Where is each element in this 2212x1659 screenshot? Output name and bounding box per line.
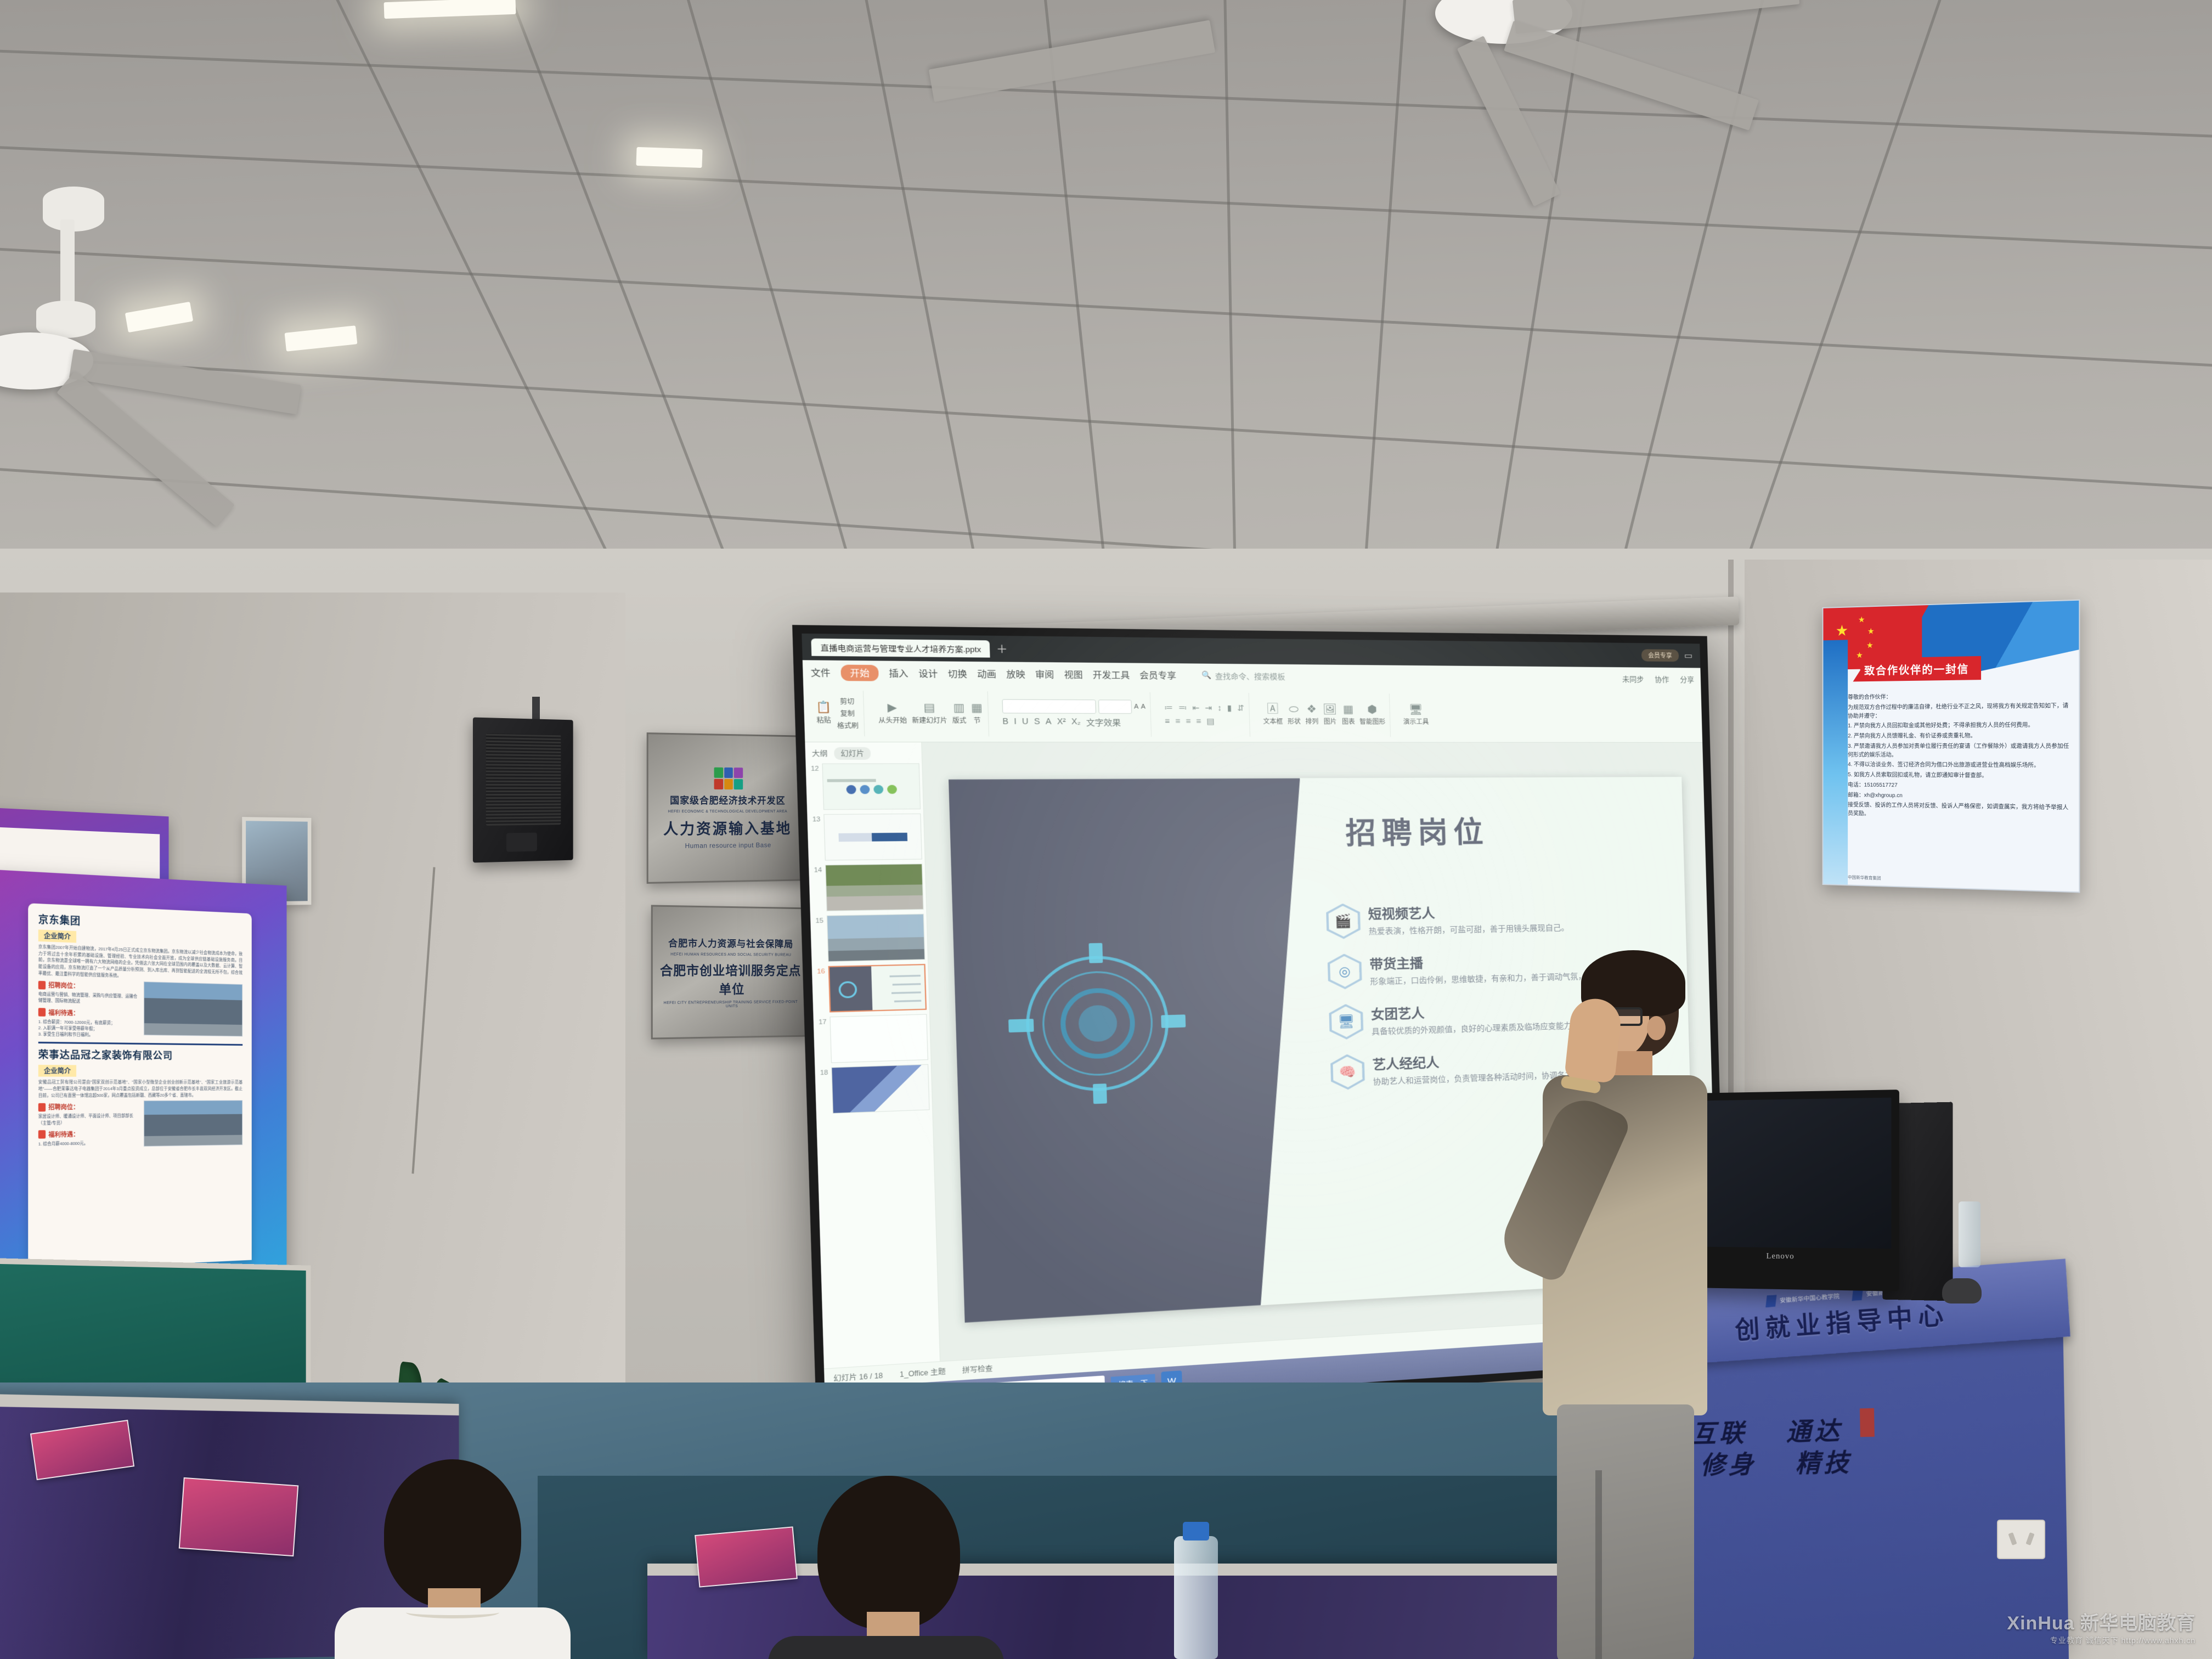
tab-member[interactable]: 会员专享 (1139, 669, 1176, 681)
window-minimize-icon[interactable]: ▭ (1684, 650, 1693, 661)
paste-button[interactable]: 📋 粘贴 (816, 702, 832, 725)
computer-mouse[interactable] (1942, 1278, 1982, 1304)
display-board-recruitment: 京东集团 企业简介 京东集团2007年开始自建物流，2017年4月25日正式成立… (0, 869, 286, 1303)
text-color-button[interactable]: A (1046, 716, 1052, 729)
smartart-icon: ⬢ (1367, 704, 1377, 715)
watermark-tagline: 专业教育 诚信天下 http://www.ahxh.cn (2007, 1635, 2196, 1646)
plaque-title-cn: 人力资源输入基地 (663, 816, 792, 838)
plaque-hr-base: 国家级合肥经济技术开发区 HEFEI ECONOMIC & TECHNOLOGI… (647, 732, 807, 884)
poster-rule: 2. 严禁向我方人员馈赠礼金、有价证券或贵重礼物。 (1848, 731, 2071, 741)
development-zone-logo-icon (714, 767, 743, 789)
text-direction-icon[interactable]: ⇵ (1237, 703, 1244, 713)
bold-button[interactable]: B (1002, 716, 1008, 729)
align-right-icon[interactable]: ≡ (1186, 716, 1191, 726)
shapes-icon: ⬭ (1289, 704, 1299, 715)
thumbnail-item-selected[interactable]: 16 (815, 964, 927, 1013)
necklace (406, 1606, 499, 1618)
ceiling-fan (1130, 0, 1734, 187)
ribbon-group-drawing: 🄰 文本框 ⬭ 形状 ❖ 排列 🖼 图片 ▦ (1257, 693, 1391, 737)
thumbnail-item[interactable]: 15 (813, 914, 926, 962)
document-tab[interactable]: 直播电商运营与管理专业人才培养方案.pptx (811, 638, 990, 657)
search-icon: 🔍 (1201, 670, 1211, 680)
theme-name[interactable]: 1_Office 主题 (900, 1366, 946, 1379)
poster-letter-to-partners: ★ ★ ★ ★ ★ 致合作伙伴的一封信 尊敬的合作伙伴： 为规范双方合作过程中的… (1822, 600, 2080, 893)
font-family-select[interactable] (1002, 699, 1096, 714)
ribbon-toolbar: 📋 粘贴 剪切 复制 格式刷 (803, 684, 1702, 742)
ceiling-fan (0, 181, 219, 488)
brochure[interactable] (179, 1477, 299, 1556)
section-icon: ▦ (971, 702, 983, 714)
plaque-title-cn: 合肥市创业培训服务定点单位 (658, 960, 803, 998)
thumbnail-item[interactable]: 18 (817, 1064, 929, 1114)
chart-icon: ▦ (1343, 704, 1354, 715)
ceiling-light (285, 325, 358, 351)
welfare-heading: 福利待遇： (38, 1129, 139, 1139)
poster-rule: 4. 不得以洽谈业务、签订经济合同为借口外出旅游或进营业性高档娱乐场所。 (1848, 761, 2071, 770)
poster-intro: 为规范双方合作过程中的廉洁自律，杜绝行业不正之风，现将我方有关规定告知如下，请协… (1848, 702, 2071, 721)
new-slide-icon: ▤ (923, 702, 935, 714)
tab-animation[interactable]: 动画 (977, 667, 996, 680)
section-tag: 企业简介 (38, 1065, 76, 1077)
smartart-button[interactable]: ⬢ 智能图形 (1359, 704, 1385, 726)
picture-icon: 🖼 (1323, 704, 1337, 715)
member-badge[interactable]: 会员专享 (1641, 649, 1679, 662)
water-bottle[interactable] (1174, 1536, 1218, 1659)
start-from-beginning-button[interactable]: ▶ 从头开始 (878, 702, 907, 725)
student-seated-center (768, 1476, 1004, 1659)
tab-view[interactable]: 视图 (1064, 668, 1083, 681)
ribbon-group-slides: ▶ 从头开始 ▤ 新建幻灯片 ▥ 版式 ▦ 节 (872, 691, 989, 736)
wall-speaker (473, 718, 573, 863)
slide-list-item: 🎬 短视频艺人 热爱表演，性格开朗，可盐可甜，善于用镜头展现自己。 (1325, 898, 1666, 939)
superscript-button[interactable]: X² (1057, 716, 1066, 729)
italic-button[interactable]: I (1014, 716, 1017, 729)
calligraphy-right: 通达 精技 (1786, 1415, 1852, 1480)
plaque-title-en: Human resource input Base (685, 841, 771, 850)
tab-review[interactable]: 审阅 (1035, 668, 1054, 680)
pin-icon (38, 980, 46, 989)
company-photo (144, 981, 242, 1036)
plaque-org-en: HEFEI HUMAN RESOURCES AND SOCIAL SECURIT… (670, 952, 791, 957)
strikethrough-button[interactable]: S (1034, 716, 1040, 729)
command-search[interactable]: 🔍 查找命令、搜索模板 (1201, 670, 1285, 681)
presentation-tools-button[interactable]: 🖥 演示工具 (1403, 704, 1429, 726)
school-mark-icon (1765, 1295, 1778, 1307)
tab-transition[interactable]: 切换 (948, 667, 968, 680)
arrange-button[interactable]: ❖ 排列 (1305, 704, 1319, 726)
columns-icon[interactable]: ▮ (1227, 703, 1232, 713)
arrange-icon: ❖ (1306, 704, 1317, 715)
format-painter-button[interactable]: 格式刷 (837, 720, 859, 730)
line-spacing-icon[interactable]: ↕ (1217, 703, 1222, 713)
font-size-select[interactable] (1098, 699, 1131, 714)
new-slide-button[interactable]: ▤ 新建幻灯片 (911, 702, 947, 725)
poster-email-label: 邮箱： (1848, 792, 1864, 798)
watermark-brand-en: XinHua (2007, 1613, 2074, 1634)
watermark-brand-cn: 新华电脑教育 (2080, 1613, 2196, 1634)
item-desc: 热爱表演，性格开朗，可盐可甜，善于用镜头展现自己。 (1369, 922, 1569, 937)
section-tag: 企业简介 (38, 929, 76, 943)
poster-rule: 1. 严禁向我方人员回扣取金或其他好处费；不得承担我方人员的任何费用。 (1848, 721, 2071, 731)
layout-icon: ▥ (953, 702, 964, 714)
head-brain-icon: 🧠 (1339, 1064, 1356, 1080)
monitor-icon: 🖥 (1338, 1014, 1355, 1030)
thumbnail-panel-tabs: 大纲 幻灯片 (808, 746, 919, 764)
calligraphy-seal (1860, 1408, 1875, 1437)
section-button[interactable]: ▦ 节 (971, 702, 983, 725)
textbox-icon: 🄰 (1267, 704, 1278, 715)
board-card: 京东集团 企业简介 京东集团2007年开始自建物流，2017年4月25日正式成立… (28, 903, 252, 1271)
bullets-icon[interactable]: ≔ (1164, 703, 1173, 713)
company-intro: 安徽品冠工贸有限公司是由"国家双创示范基地"、"国家小型微型企业创业创新示范基地… (38, 1079, 242, 1099)
plaque-training-unit: 合肥市人力资源与社会保障局 HEFEI HUMAN RESOURCES AND … (651, 905, 810, 1039)
ceiling-light (384, 0, 516, 19)
company-name: 荣事达品冠之家装饰有限公司 (38, 1047, 242, 1063)
slide-thumbnail-panel[interactable]: 大纲 幻灯片 12 13 (805, 742, 940, 1368)
subscript-button[interactable]: X₂ (1071, 716, 1081, 728)
ribbon-group-clipboard: 📋 粘贴 剪切 复制 格式刷 (810, 690, 865, 736)
slide-counter: 幻灯片 16 / 18 (833, 1370, 883, 1384)
distribute-icon[interactable]: ▤ (1206, 716, 1215, 726)
numbering-icon[interactable]: ≕ (1178, 703, 1187, 713)
poster-body: 尊敬的合作伙伴： 为规范双方合作过程中的廉洁自律，杜绝行业不正之风，现将我方有关… (1848, 691, 2071, 823)
presenter-hand (1564, 996, 1623, 1084)
presentation-tools-icon: 🖥 (1409, 704, 1423, 715)
poster-phone: 15105517727 (1864, 782, 1898, 788)
justify-icon[interactable]: ≡ (1196, 716, 1201, 726)
ribbon-group-font: A A B I U S A X² X₂ 文字效果 (996, 691, 1152, 736)
tech-circle-graphic (1024, 954, 1171, 1093)
plaque-org-cn: 合肥市人力资源与社会保障局 (668, 935, 793, 950)
presenter-trousers (1557, 1404, 1694, 1659)
tab-developer[interactable]: 开发工具 (1092, 668, 1130, 681)
share-button[interactable]: 分享 (1680, 674, 1694, 684)
picture-button[interactable]: 🖼 图片 (1323, 704, 1338, 726)
pin-icon (38, 1130, 46, 1139)
company-intro: 京东集团2007年开始自建物流，2017年4月25日正式成立京东物流集团。京东物… (38, 944, 242, 982)
plaque-org-en: HEFEI ECONOMIC & TECHNOLOGICAL DEVELOPME… (668, 809, 787, 813)
poster-email: xh@xhgroup.cn (1864, 792, 1903, 799)
presenter-person (1531, 955, 1717, 1659)
new-tab-icon[interactable]: ＋ (996, 641, 1008, 656)
tab-slides[interactable]: 幻灯片 (834, 747, 871, 760)
chart-button[interactable]: ▦ 图表 (1341, 704, 1355, 726)
poster-salutation: 尊敬的合作伙伴： (1848, 691, 2071, 702)
wall-power-outlet[interactable] (1997, 1520, 2045, 1559)
shapes-button[interactable]: ⬭ 形状 (1287, 704, 1301, 726)
slide-title: 招聘岗位 (1345, 809, 1489, 853)
align-left-icon[interactable]: ≡ (1165, 716, 1170, 726)
target-search-icon: ◎ (1339, 963, 1351, 979)
pin-icon (38, 1103, 46, 1111)
clipboard-icon: 📋 (816, 702, 832, 713)
item-heading: 短视频艺人 (1368, 900, 1568, 922)
poster-footer: 接受反馈、投诉的工作人员将对反馈、投诉人严格保密，如调查属实，我方将给予举报人员… (1848, 801, 2071, 821)
poster-title: 致合作伙伴的一封信 (1853, 656, 1982, 682)
photo-watermark: XinHua 新华电脑教育 专业教育 诚信天下 http://www.ahxh.… (2007, 1608, 2196, 1646)
classroom-scene: 国家级合肥经济技术开发区 HEFEI ECONOMIC & TECHNOLOGI… (0, 0, 2212, 1659)
jobs-heading: 招聘岗位： (38, 1102, 139, 1111)
divider (38, 1042, 242, 1046)
jobs-heading: 招聘岗位： (38, 980, 139, 992)
sync-status[interactable]: 未同步 (1622, 673, 1644, 684)
welfare-heading: 福利待遇： (38, 1008, 139, 1019)
tab-home[interactable]: 开始 (840, 664, 879, 681)
plaque-title-en: HEFEI CITY ENTREPRENEURSHIP TRAINING SER… (658, 1000, 803, 1009)
student-seated-left (324, 1459, 565, 1659)
tab-slideshow[interactable]: 放映 (1006, 668, 1025, 680)
text-effects-button[interactable]: 文字效果 (1086, 716, 1121, 729)
thumbnail-item[interactable]: 14 (811, 864, 924, 911)
cut-button[interactable]: 剪切 (836, 696, 858, 706)
poster-rule: 5. 如我方人员索取回扣或礼物，请立即通知审计督查部。 (1848, 771, 2071, 781)
poster-bottom-note: 中国新华教育集团 (1848, 874, 1881, 882)
align-center-icon[interactable]: ≡ (1175, 716, 1181, 726)
presenter-ear (1647, 1016, 1666, 1040)
plaque-org-cn: 国家级合肥经济技术开发区 (670, 792, 786, 806)
layout-button[interactable]: ▥ 版式 (952, 702, 967, 725)
spellcheck-status[interactable]: 拼写检查 (962, 1363, 993, 1375)
tab-outline[interactable]: 大纲 (812, 748, 828, 759)
increase-indent-icon[interactable]: ⇥ (1205, 703, 1212, 713)
copy-button[interactable]: 复制 (837, 708, 859, 718)
thumbnail-item[interactable]: 12 (808, 763, 921, 810)
pin-icon (38, 1008, 46, 1017)
decrease-indent-icon[interactable]: ⇤ (1192, 703, 1199, 713)
company-photo (144, 1101, 242, 1147)
video-clapper-icon: 🎬 (1335, 913, 1352, 929)
play-circle-icon: ▶ (888, 702, 898, 713)
presenter-leg-split (1595, 1470, 1602, 1659)
ribbon-group-paragraph: ≔ ≕ ⇤ ⇥ ↕ ▮ ⇵ ≡ ≡ ≡ (1159, 692, 1251, 736)
tab-design[interactable]: 设计 (918, 667, 938, 679)
poster-rule: 3. 严禁邀请我方人员参加对责单位履行责任的宴请（工作餐除外）或邀请我方人员参加… (1848, 742, 2071, 760)
decrease-font-icon[interactable]: A (1141, 703, 1145, 710)
increase-font-icon[interactable]: A (1134, 703, 1139, 710)
ceiling-light (636, 147, 702, 168)
thumbnail-item[interactable]: 13 (810, 814, 922, 861)
tab-file[interactable]: 文件 (810, 666, 831, 679)
collaborate-button[interactable]: 协作 (1655, 673, 1669, 684)
poster-phone-label: 电话： (1848, 781, 1864, 788)
tab-insert[interactable]: 插入 (889, 667, 909, 679)
thumbnail-item[interactable]: 17 (816, 1014, 928, 1063)
ribbon-group-tools: 🖥 演示工具 (1398, 693, 1434, 737)
underline-button[interactable]: U (1022, 716, 1029, 729)
poster-side-stripe (1823, 640, 1848, 884)
textbox-button[interactable]: 🄰 文本框 (1263, 704, 1283, 726)
podium-water-bottle[interactable] (1959, 1201, 1980, 1267)
search-placeholder: 查找命令、搜索模板 (1215, 670, 1285, 681)
